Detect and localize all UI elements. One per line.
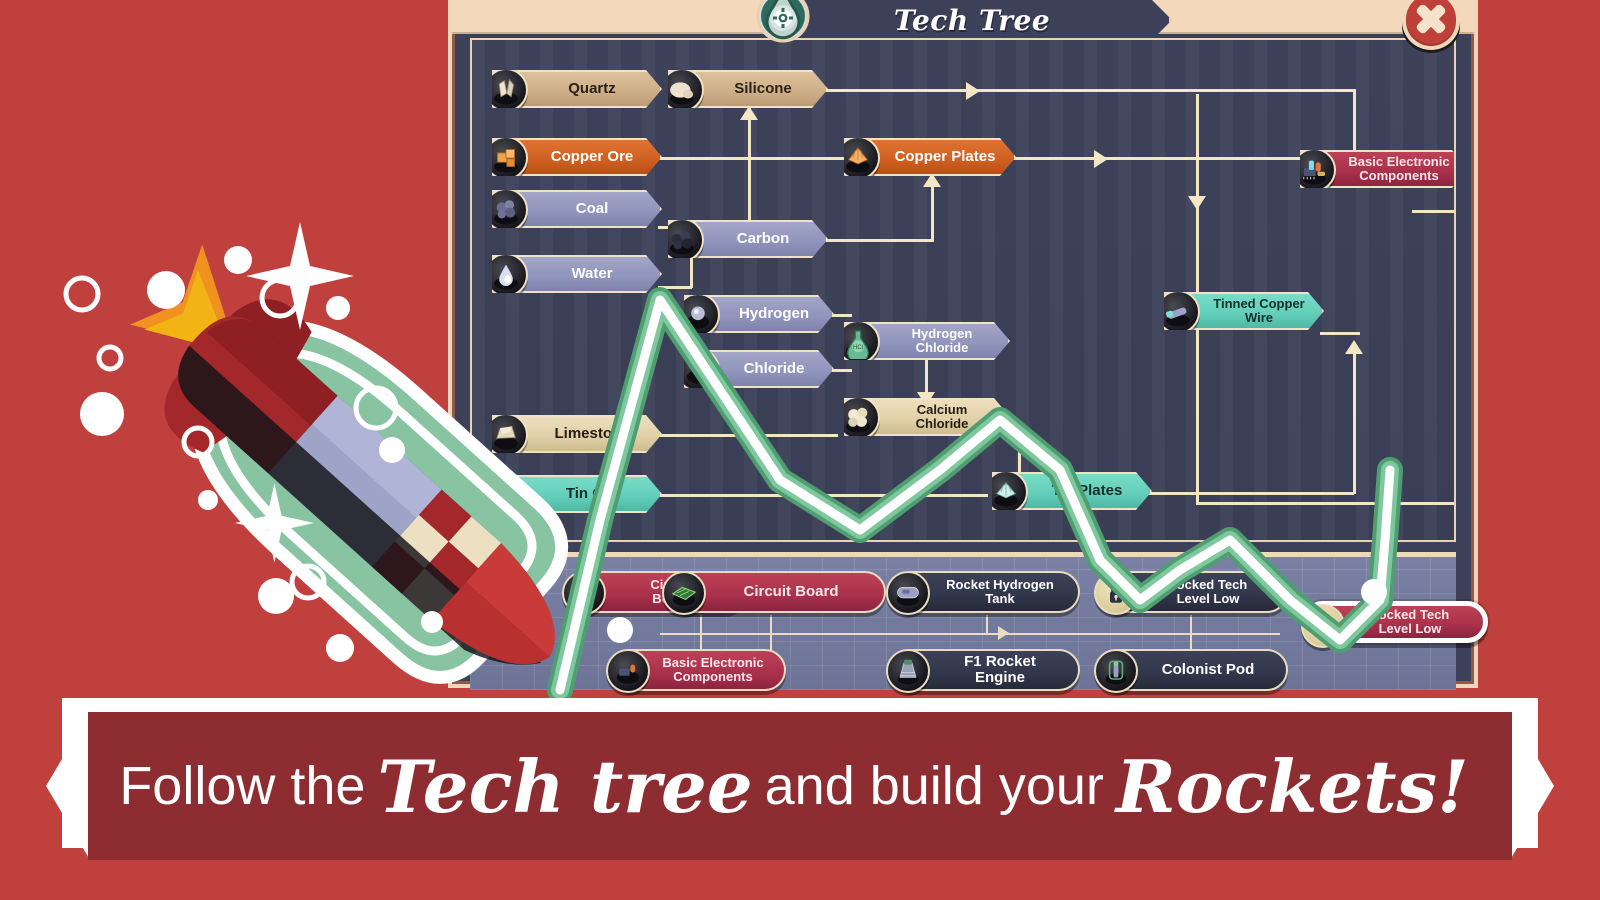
building-label: Rocket HydrogenTank [938,578,1062,606]
building-wire [770,615,772,651]
tagline-part-1: Follow the [119,755,365,817]
wire [1454,210,1456,502]
carbon-chunks-icon [660,218,704,262]
tech-node-hydrogen-chloride[interactable]: HCl HydrogenChloride [844,322,1010,360]
wire [824,89,984,92]
tech-node-label: Tinned CopperWire [1210,297,1308,324]
wire [984,89,1354,92]
wire [1320,332,1360,335]
tech-node-label: Copper Plates [890,149,1000,165]
tech-node-copper-ore[interactable]: Copper Ore [492,138,662,176]
wire [1196,328,1199,504]
wire [690,258,693,288]
building-label: Colonist Pod [1146,662,1270,678]
building-label: Locked TechLevel Low [1146,578,1270,606]
arrow-right-icon [802,487,816,505]
wire [1412,210,1456,213]
tagline-ribbon: Follow the Tech tree and build your Rock… [0,680,1600,900]
silicone-blob-icon [660,68,704,112]
tech-node-label: Hydrogen [730,306,818,322]
building-rocket-hydrogen-tank[interactable]: Rocket HydrogenTank [890,571,1080,613]
wire [1148,492,1354,495]
tagline-part-4: Rockets! [1104,744,1481,829]
tech-node-chloride[interactable]: Chloride [684,350,834,388]
padlock-icon [1301,604,1345,648]
tech-node-hydrogen[interactable]: Hydrogen [684,295,834,333]
tech-node-label: CalciumChloride [890,403,994,430]
tagline-part-3: and build your [765,755,1104,817]
building-label: Locked TechLevel Low [1353,608,1467,636]
building-locked-b[interactable]: Locked TechLevel Low [1302,601,1488,643]
tech-node-label: Basic ElectronicComponents [1346,155,1452,182]
circuit-board-icon [662,571,706,615]
tech-node-label: Chloride [730,361,818,377]
close-button[interactable] [1394,0,1468,58]
svg-text:HCl: HCl [853,345,863,351]
building-locked-a[interactable]: Locked TechLevel Low [1098,571,1288,613]
wire [658,434,838,437]
arrow-down-icon [1188,196,1206,210]
tech-node-label: Copper Ore [538,149,646,165]
tech-node-label: Silicone [714,81,812,97]
tech-node-calcium-chloride[interactable]: CalciumChloride [844,398,1010,436]
tech-node-quartz[interactable]: Quartz [492,70,662,108]
wire [658,157,858,160]
copper-ore-icon [484,136,528,180]
tech-node-silicone[interactable]: Silicone [668,70,828,108]
arrow-right-icon [998,626,1009,640]
wire [658,494,988,497]
flask-green-icon: HCl [836,320,880,364]
chloride-icon [676,348,720,392]
tech-node-basic-electronic-components[interactable]: Basic ElectronicComponents [1300,150,1456,188]
mission-banner: Mission! [0,0,426,62]
quartz-crystal-icon [484,68,528,112]
tech-node-tinned-copper-wire[interactable]: Tinned CopperWire [1164,292,1324,330]
arrow-right-icon [966,82,980,100]
wire [824,239,934,242]
tagline-text: Follow the Tech tree and build your Rock… [88,712,1512,860]
copper-wire-icon [1156,290,1200,334]
wire [658,286,692,289]
tech-node-carbon[interactable]: Carbon [668,220,828,258]
calcium-chloride-icon [836,396,880,440]
tin-plate-icon [984,470,1028,514]
tech-node-label: Coal [538,201,646,217]
wire [1196,502,1456,505]
building-circuit-board[interactable]: Circuit Board [666,571,886,613]
page-title: Tech Tree [894,4,1050,37]
tech-node-label: Tin Plates [1038,483,1136,499]
arrow-down-icon [1010,438,1028,452]
building-wire [700,615,702,651]
tagline-part-2: Tech tree [365,744,764,829]
rocket-illustration [40,218,660,728]
building-wire [1100,633,1280,635]
wire [748,106,751,220]
tech-node-tin-plates[interactable]: Tin Plates [992,472,1152,510]
research-flask-icon [752,0,814,44]
tech-node-label: Quartz [538,81,646,97]
tech-node-label: HydrogenChloride [890,327,994,354]
ribbon-body: Follow the Tech tree and build your Rock… [88,712,1512,860]
tech-node-label: Carbon [714,231,812,247]
arrow-up-icon [740,106,758,120]
hydrogen-tank-icon [886,571,930,615]
tech-node-copper-plates[interactable]: Copper Plates [844,138,1016,176]
building-wire [660,633,1100,635]
wire [1353,346,1356,494]
arrow-right-icon [1094,150,1108,168]
hydrogen-icon [676,293,720,337]
building-label: Circuit Board [714,584,868,600]
electronics-icon [1292,148,1336,192]
arrow-up-icon [1345,340,1363,354]
promo-stage: Tech Tree [0,0,1600,900]
padlock-icon [1094,571,1138,615]
building-wire [986,615,988,635]
